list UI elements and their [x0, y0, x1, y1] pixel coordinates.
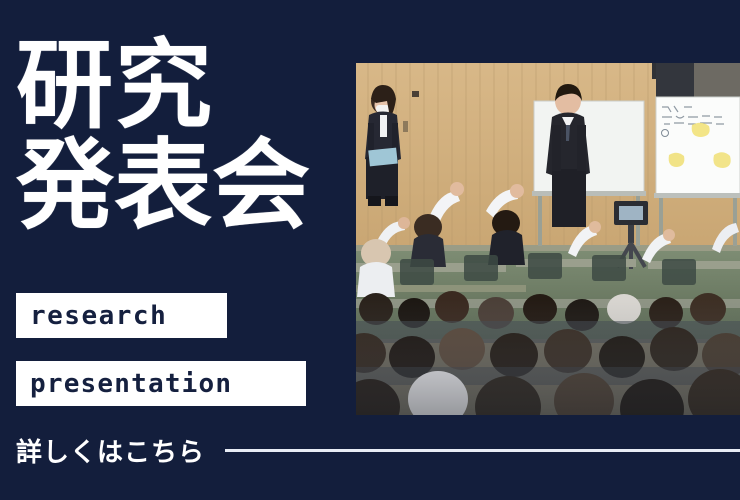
cta-rule-divider	[225, 449, 740, 452]
cta-link[interactable]: 詳しくはこちら	[16, 432, 740, 468]
promo-banner: 研究 発表会 research presentation 詳しくはこちら	[0, 0, 740, 500]
headline-line-1: 研究	[16, 36, 361, 136]
event-photo	[356, 63, 740, 415]
cta-label: 詳しくはこちら	[16, 432, 205, 469]
label-research: research	[16, 293, 227, 338]
headline-line-2: 発表会	[16, 136, 361, 237]
label-presentation: presentation	[16, 361, 306, 406]
page-title: 研究 発表会	[16, 36, 361, 237]
event-photo-illustration	[356, 63, 740, 415]
